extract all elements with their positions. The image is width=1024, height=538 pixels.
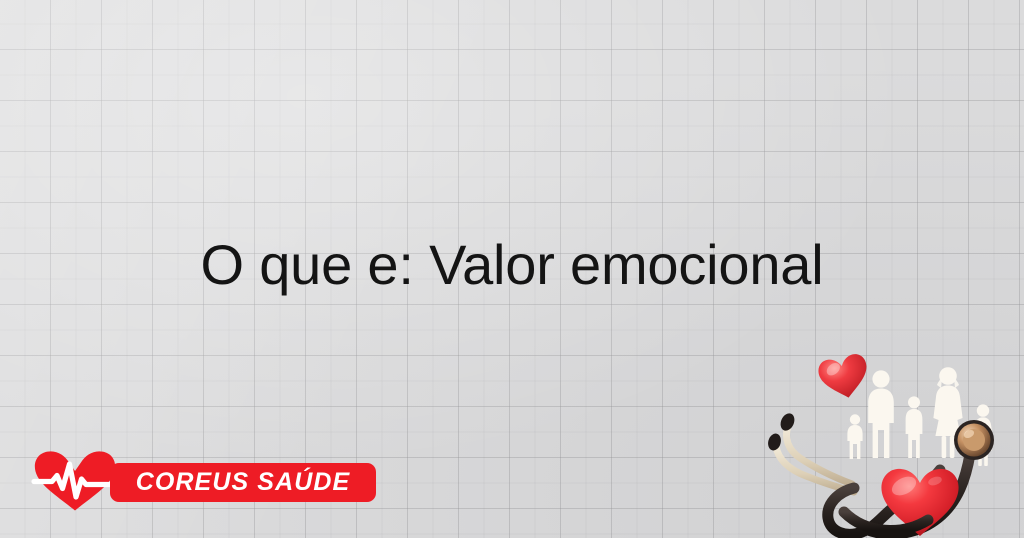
stethoscope-earpiece-left	[778, 411, 797, 433]
brand-name-badge: COREUS SAÚDE	[110, 463, 376, 502]
brand-name-label: COREUS SAÚDE	[110, 463, 376, 502]
slide-canvas: O que e: Valor emocional COREUS SAÚDE	[0, 0, 1024, 538]
page-title: O que e: Valor emocional	[0, 234, 1024, 296]
heart-pulse-icon	[31, 450, 119, 512]
small-heart-icon	[816, 352, 872, 403]
brand-logo[interactable]: COREUS SAÚDE	[31, 450, 351, 512]
medical-illustration-graphic	[762, 342, 1024, 538]
stethoscope-chestpiece	[954, 420, 994, 460]
stethoscope-earpiece-right	[766, 432, 783, 452]
medical-illustration	[762, 342, 1024, 538]
